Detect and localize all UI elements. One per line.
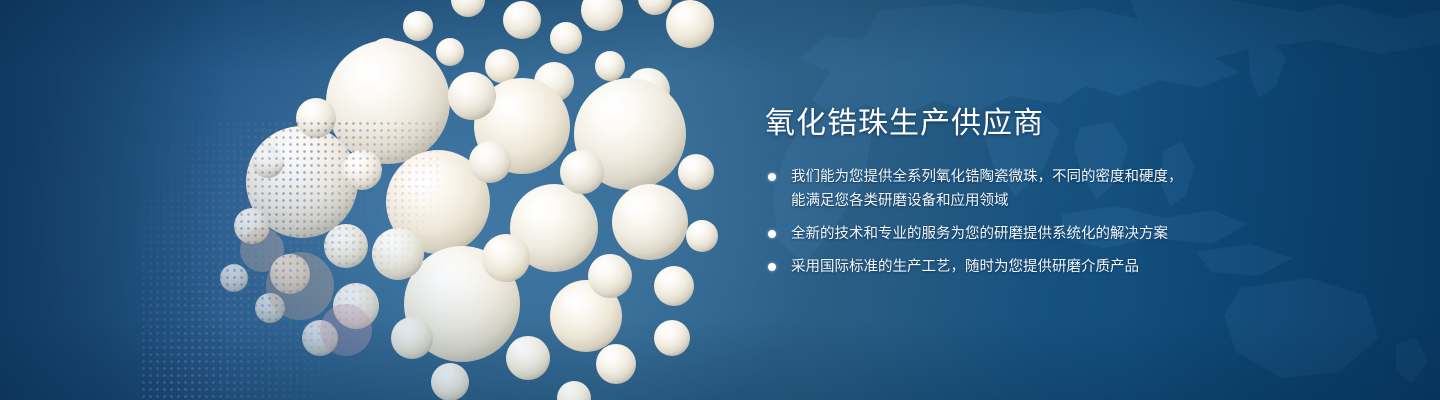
feature-list: 我们能为您提供全系列氧化锆陶瓷微珠，不同的密度和硬度， 能满足您各类研磨设备和应…: [765, 165, 1385, 279]
hero-banner: 氧化锆珠生产供应商 我们能为您提供全系列氧化锆陶瓷微珠，不同的密度和硬度， 能满…: [0, 0, 1440, 400]
banner-copy: 氧化锆珠生产供应商 我们能为您提供全系列氧化锆陶瓷微珠，不同的密度和硬度， 能满…: [765, 104, 1385, 279]
list-item: 我们能为您提供全系列氧化锆陶瓷微珠，不同的密度和硬度， 能满足您各类研磨设备和应…: [765, 165, 1385, 213]
zirconia-beads-image: [150, 0, 730, 400]
page-title: 氧化锆珠生产供应商: [765, 104, 1385, 144]
list-item-label: 全新的技术和专业的服务为您的研磨提供系统化的解决方案: [791, 222, 1385, 246]
list-item-label: 采用国际标准的生产工艺，随时为您提供研磨介质产品: [791, 255, 1385, 279]
bullet-dot-icon: [768, 263, 776, 271]
list-item: 全新的技术和专业的服务为您的研磨提供系统化的解决方案: [765, 222, 1385, 246]
bullet-dot-icon: [768, 173, 776, 181]
list-item-label-cont: 能满足您各类研磨设备和应用领域: [791, 189, 1385, 213]
bullet-dot-icon: [768, 230, 776, 238]
list-item-label: 我们能为您提供全系列氧化锆陶瓷微珠，不同的密度和硬度，: [791, 165, 1385, 189]
list-item: 采用国际标准的生产工艺，随时为您提供研磨介质产品: [765, 255, 1385, 279]
